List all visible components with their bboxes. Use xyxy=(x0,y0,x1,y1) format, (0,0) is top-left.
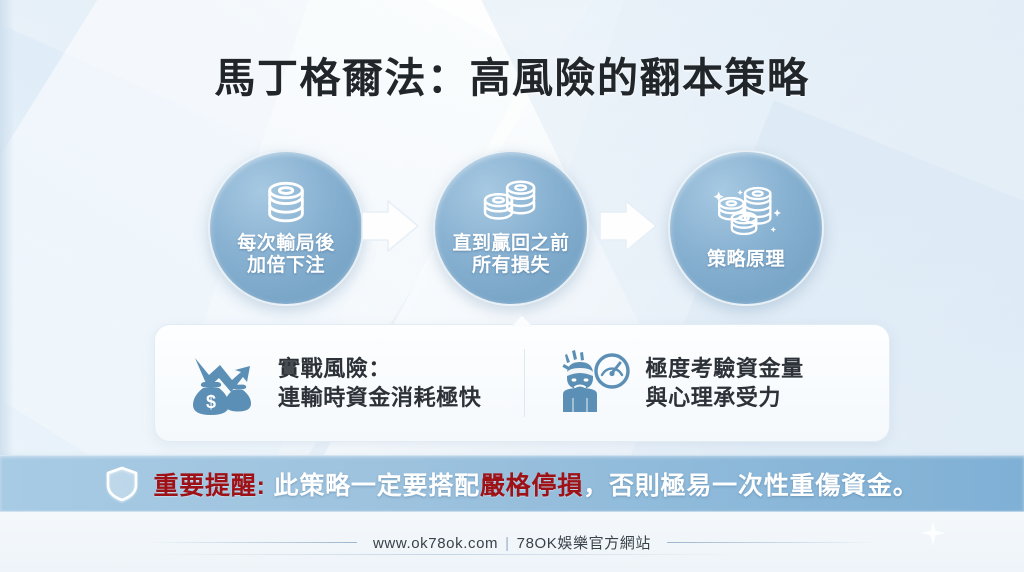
flow-step-2[interactable]: 直到贏回之前 所有損失 xyxy=(433,150,589,306)
arrow-right-icon-2 xyxy=(596,196,662,256)
page-title: 馬丁格爾法：高風險的翻本策略 xyxy=(0,44,1024,104)
risk-card-left-text: 實戰風險： 連輸時資金消耗極快 xyxy=(278,354,481,412)
flow-step-3[interactable]: 策略原理 xyxy=(668,150,824,306)
money-bag-down-arrow-icon: $ xyxy=(189,348,263,418)
flow-step-2-line1: 直到贏回之前 xyxy=(452,233,569,254)
flow-step-3-label: 策略原理 xyxy=(707,249,785,271)
flow-diagram: 每次輸局後 加倍下注 xyxy=(0,144,1024,316)
risk-left-line2: 連輸時資金消耗極快 xyxy=(278,385,481,410)
shield-icon xyxy=(105,465,139,503)
risk-card-right-text: 極度考驗資金量 與心理承受力 xyxy=(646,354,804,412)
flow-step-2-label: 直到贏回之前 所有損失 xyxy=(452,233,569,278)
footer-site-name: 78OK娛樂官方網站 xyxy=(517,535,651,552)
footer-rule-secondary xyxy=(150,554,744,555)
flow-step-1[interactable]: 每次輸局後 加倍下注 xyxy=(208,150,364,306)
triple-coin-stack-sparkle-icon xyxy=(707,185,785,245)
risk-card-right: 極度考驗資金量 與心理承受力 xyxy=(525,348,890,418)
footer-url[interactable]: www.ok78ok.com xyxy=(373,535,498,552)
flow-step-1-line1: 每次輸局後 xyxy=(237,233,335,254)
svg-text:$: $ xyxy=(206,392,216,412)
coin-stack-icon xyxy=(255,179,317,229)
sparkle-icon xyxy=(920,520,946,546)
arrow-right-icon-1 xyxy=(358,196,424,256)
banner-highlight: 嚴格停損 xyxy=(480,472,583,500)
banner-middle: 此策略一定要搭配 xyxy=(266,472,480,500)
risk-left-line1: 實戰風險： xyxy=(278,356,391,381)
footer: www.ok78ok.com|78OK娛樂官方網站 xyxy=(0,512,1024,572)
flow-step-2-line2: 所有損失 xyxy=(472,255,550,276)
footer-rule-right xyxy=(667,542,877,543)
warning-banner: 重要提醒: 此策略一定要搭配嚴格停損，否則極易一次性重傷資金。 xyxy=(0,455,1024,512)
flow-step-3-line1: 策略原理 xyxy=(707,249,785,270)
footer-text: www.ok78ok.com|78OK娛樂官方網站 xyxy=(373,532,651,553)
footer-separator: | xyxy=(505,535,510,552)
banner-prefix: 重要提醒: xyxy=(153,472,265,500)
warning-banner-text: 重要提醒: 此策略一定要搭配嚴格停損，否則極易一次性重傷資金。 xyxy=(153,466,918,502)
risk-card-left: $ 實戰風險： 連輸時資金消耗極快 xyxy=(155,348,524,418)
double-coin-stack-icon xyxy=(480,179,542,229)
risk-card: $ 實戰風險： 連輸時資金消耗極快 xyxy=(154,324,890,442)
flow-step-1-label: 每次輸局後 加倍下注 xyxy=(237,233,335,278)
banner-suffix: ，否則極易一次性重傷資金。 xyxy=(583,472,918,500)
infographic-canvas: 馬丁格爾法：高風險的翻本策略 每次輸局後 加倍下注 xyxy=(0,0,1024,572)
risk-right-line2: 與心理承受力 xyxy=(646,385,782,410)
flow-step-1-line2: 加倍下注 xyxy=(247,255,325,276)
risk-right-line1: 極度考驗資金量 xyxy=(646,356,804,381)
footer-rule-left xyxy=(147,542,357,543)
stressed-person-gauge-icon xyxy=(555,348,631,418)
